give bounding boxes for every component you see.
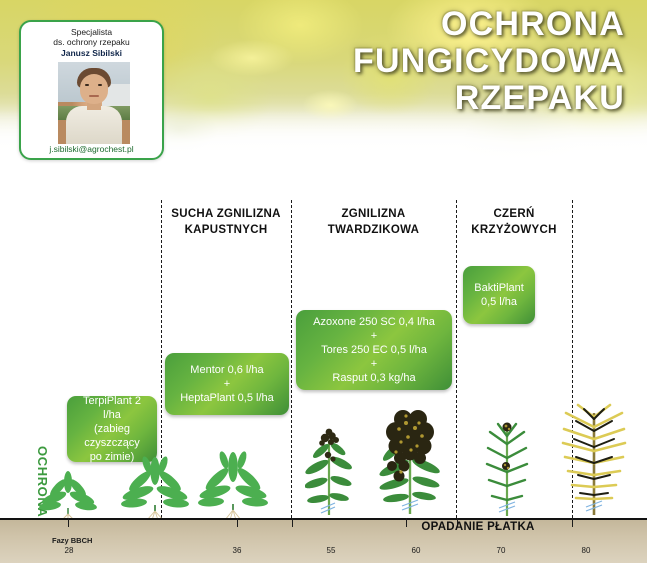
poster-root: OCHRONA FUNGICYDOWA RZEPAKU Specjalista …	[0, 0, 647, 563]
divider-line-3	[456, 200, 457, 518]
axis-tick-55	[292, 518, 293, 527]
treatment-box-baktiplant[interactable]: BaktiPlant 0,5 l/ha	[463, 266, 535, 324]
treatment-timeline-chart: SUCHA ZGNILIZNA KAPUSTNYCH ZGNILIZNA TWA…	[0, 178, 647, 563]
axis-tick-36	[237, 518, 238, 527]
plant-stage-36b-icon	[198, 450, 268, 520]
plant-stage-80-icon	[556, 403, 630, 520]
plant-stage-55-icon	[305, 423, 353, 520]
avatar	[58, 62, 130, 144]
plant-stage-36a-icon	[120, 453, 190, 520]
bbch-stage-2: 55	[316, 546, 346, 555]
avatar-eye-right	[98, 84, 102, 86]
avatar-shirt	[66, 106, 122, 144]
bbch-stage-1: 36	[222, 546, 252, 555]
bbch-stage-3: 60	[401, 546, 431, 555]
avatar-eye-left	[85, 84, 89, 86]
axis-title-bbch: Fazy BBCH	[52, 536, 92, 545]
plant-stage-28-icon	[38, 468, 98, 520]
treatment-box-mentor-heptaplant[interactable]: Mentor 0,6 l/ha + HeptaPlant 0,5 l/ha	[165, 353, 289, 415]
specialist-email[interactable]: j.sibilski@agrochest.pl	[21, 144, 162, 154]
plant-stage-70-icon	[476, 418, 538, 520]
bbch-stage-4: 70	[486, 546, 516, 555]
avatar-face	[80, 74, 108, 104]
avatar-mouth	[89, 95, 99, 97]
page-title: OCHRONA FUNGICYDOWA RZEPAKU	[195, 6, 625, 117]
column-title-zgnilizna-twardzikowa: ZGNILIZNA TWARDZIKOWA	[293, 206, 454, 238]
axis-tick-28	[68, 518, 69, 527]
axis-annotation-opadanie-platka: OPADANIE PŁATKA	[378, 521, 578, 533]
plant-stage-60-icon	[370, 406, 448, 520]
bbch-stage-0: 28	[54, 546, 84, 555]
divider-line-2	[291, 200, 292, 518]
specialist-name: Janusz Sibilski	[21, 48, 162, 58]
specialist-card: Specjalista ds. ochrony rzepaku Janusz S…	[19, 20, 164, 160]
column-title-czern-krzyzowych: CZERŃ KRZYŻOWYCH	[458, 206, 570, 238]
specialist-role-line1: Specjalista	[21, 27, 162, 37]
bbch-stage-5: 80	[571, 546, 601, 555]
column-title-sucha-zgnilizna: SUCHA ZGNILIZNA KAPUSTNYCH	[163, 206, 289, 238]
specialist-role-line2: ds. ochrony rzepaku	[21, 37, 162, 47]
treatment-box-azoxone-tores-rasput[interactable]: Azoxone 250 SC 0,4 l/ha + Tores 250 EC 0…	[296, 310, 452, 390]
